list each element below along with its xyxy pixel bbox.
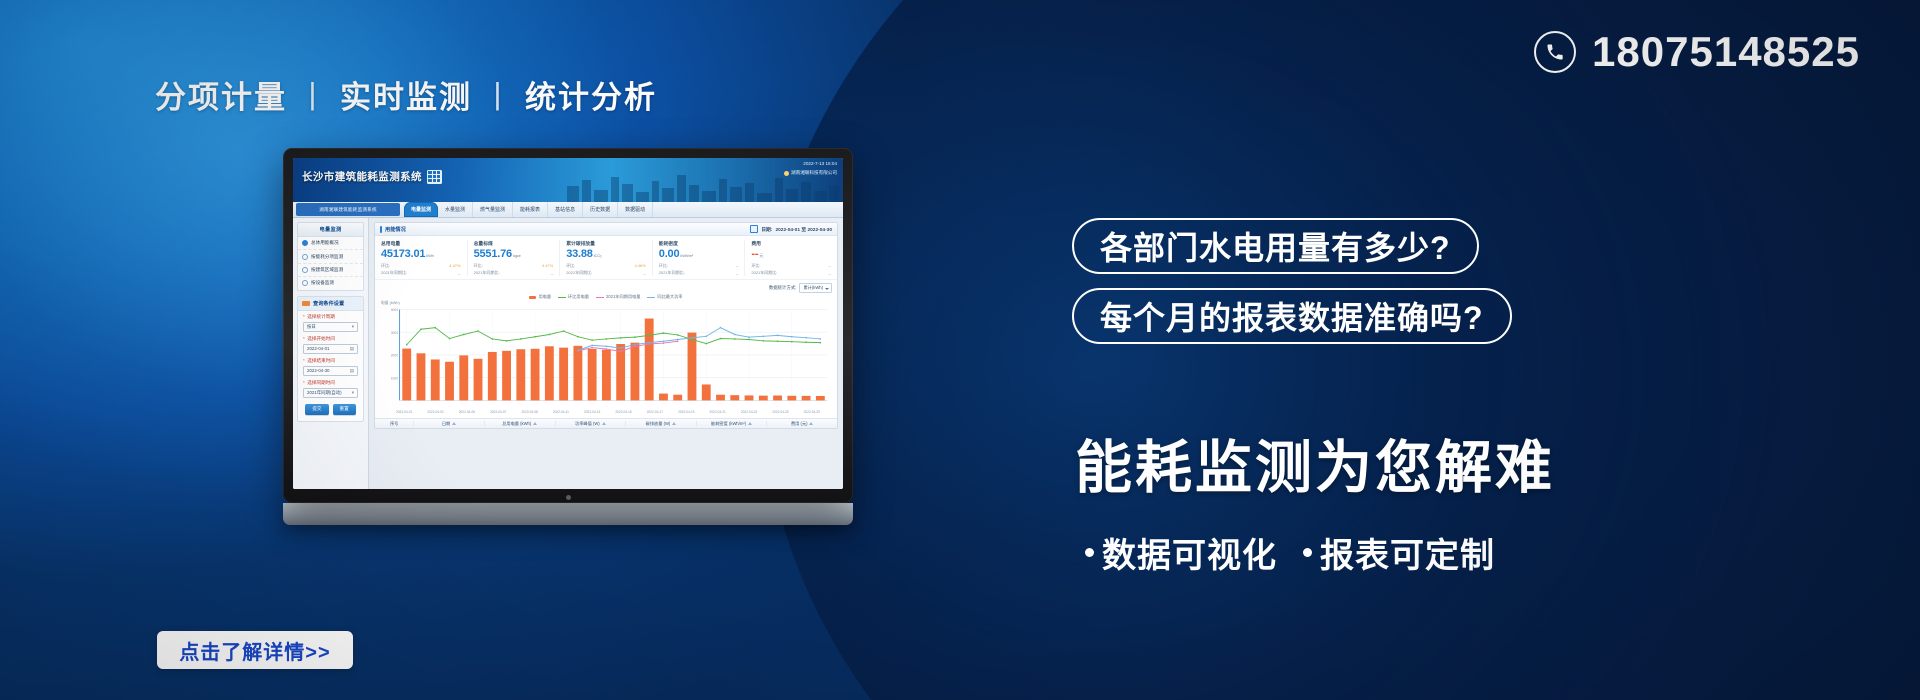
app-main: 用能情况 日期: 2022-04-01 至 2022-04-30 总用 [369, 218, 843, 489]
table-column-header[interactable]: 功率峰值 (W) [556, 421, 627, 427]
kpi-value-wrap: 33.88tCO₂ [566, 249, 646, 260]
kpi-comp-label: 环比: [751, 263, 760, 269]
kpi-value: -- [751, 248, 758, 260]
table-column-header[interactable]: 序号 [375, 421, 414, 427]
kpi-standard-coal: 总量标煤 5551.76kgce 环比: 4.47% 2021年同期比: [468, 240, 561, 276]
required-star-icon: * [303, 336, 305, 341]
tab-gas[interactable]: 燃气量监测 [473, 202, 513, 217]
chart-canvas: 1000200030004000 [380, 306, 832, 409]
kpi-comparison: 环比: -- [751, 263, 831, 269]
field-period: * 选择统计周期 按日 ▾ [298, 311, 363, 333]
table-header-row: 序号日期总用电量 (kWh)功率峰值 (W)碳排放量 (W)能耗密度 (kWh/… [375, 419, 837, 428]
kpi-comparison: 环比: -- [659, 263, 739, 269]
query-settings-header: 查询条件设置 [298, 297, 363, 311]
kpi-value-wrap: --元 [751, 249, 831, 260]
query-settings-card: 查询条件设置 * 选择统计周期 按日 ▾ [297, 296, 364, 422]
question-pill-2: 每个月的报表数据准确吗? [1072, 288, 1512, 344]
radio-icon [302, 254, 308, 260]
table-column-label: 功率峰值 (W) [575, 421, 600, 427]
calendar-icon: ▤ [350, 368, 354, 374]
calendar-icon: ▤ [350, 346, 354, 352]
bullet-dot-icon [1303, 548, 1312, 557]
field-end-date-value: 2022-04-30 [307, 368, 329, 373]
headline: 能耗监测为您解难 [1075, 422, 1555, 504]
kpi-energy-density: 能耗密度 0.00kWh/m² 环比: -- 2021年同期比: [653, 240, 746, 276]
feature-bullet-2: 报表可定制 [1303, 528, 1495, 577]
kpi-row: 总用电量 45173.01kWh 环比: 4.47% 2021年同期比: [375, 236, 837, 279]
kpi-unit: kgce [513, 253, 521, 258]
table-column-label: 费用 (元) [791, 421, 808, 427]
feature-bullet-2-label: 报表可定制 [1320, 528, 1495, 577]
x-tick-label: 2022-04-01 [396, 410, 412, 414]
sidebar-item-by-area-label: 按建筑区域监测 [311, 267, 343, 273]
tab-report[interactable]: 能耗报表 [513, 202, 548, 217]
sort-arrow-icon[interactable] [452, 422, 456, 425]
tab-water[interactable]: 水量监测 [438, 202, 473, 217]
building-grid-icon [427, 170, 442, 184]
kpi-value-wrap: 5551.76kgce [474, 249, 554, 260]
reset-button[interactable]: 重置 [333, 404, 356, 415]
legend-item-usage[interactable]: 用电量 [529, 294, 551, 300]
field-start-date-input[interactable]: 2022-04-01 ▤ [303, 344, 358, 354]
table-column-label: 碳排放量 (W) [646, 421, 671, 427]
cta-button[interactable]: 点击了解详情>> [157, 631, 353, 669]
x-tick-label: 2022-04-02 [427, 410, 443, 414]
sort-arrow-icon[interactable] [533, 422, 537, 425]
required-star-icon: * [303, 380, 305, 385]
cta-button-label: 点击了解详情>> [179, 636, 330, 665]
table-column-label: 序号 [390, 421, 398, 427]
sidebar-item-by-area[interactable]: 按建筑区域监测 [298, 264, 363, 277]
radio-icon [302, 240, 308, 246]
kpi-comp-value: -- [736, 263, 739, 268]
monitor-bezel: 长沙市建筑能耗监测系统 2022-7-13 15:04 湖南湘联科技有限公司 湖… [283, 148, 853, 503]
kpi-comp-value: 4.47% [542, 263, 553, 268]
x-tick-label: 2022-04-08 [522, 410, 538, 414]
svg-text:1000: 1000 [391, 376, 398, 380]
sort-arrow-icon[interactable] [602, 422, 606, 425]
chart-section: 数据统计方式: 累计(kWh) 用电量 环比用电量 [375, 279, 837, 416]
sidebar-item-overview[interactable]: 总体用能概况 [298, 237, 363, 250]
radio-icon [302, 267, 308, 273]
app-header-meta: 2022-7-13 15:04 湖南湘联科技有限公司 [784, 161, 837, 177]
chart-legend: 用电量 环比用电量 2021年同期用电量 [380, 294, 832, 300]
tab-data-drive[interactable]: 数据驱动 [618, 202, 653, 217]
kpi-yoy-value: -- [458, 271, 461, 276]
title-accent-icon [380, 226, 382, 233]
query-buttons: 提交 重置 [298, 399, 363, 421]
kpi-comparison: 环比: 4.47% [381, 263, 461, 269]
kpi-value: 45173.01 [381, 248, 425, 260]
kpi-comp-label: 环比: [659, 263, 668, 269]
field-start-date: * 选择开始时间 2022-04-01 ▤ [298, 333, 363, 355]
monitor-screen: 长沙市建筑能耗监测系统 2022-7-13 15:04 湖南湘联科技有限公司 湖… [293, 158, 843, 489]
kpi-unit: kWh [426, 253, 433, 258]
sidebar-header: 电量监测 [298, 223, 363, 237]
kpi-comp-label: 环比: [566, 263, 575, 269]
kpi-value: 5551.76 [474, 248, 512, 260]
x-tick-label: 2022-04-07 [490, 410, 506, 414]
query-settings-header-label: 查询条件设置 [313, 300, 344, 307]
kpi-comp-value: -- [828, 263, 831, 268]
app-timestamp: 2022-7-13 15:04 [784, 161, 837, 168]
table-column-label: 总用电量 (kWh) [502, 421, 531, 427]
legend-line-icon [558, 297, 566, 298]
usage-panel-title: 用能情况 [380, 226, 406, 233]
x-tick-label: 2022-04-15 [615, 410, 631, 414]
usage-table: 序号日期总用电量 (kWh)功率峰值 (W)碳排放量 (W)能耗密度 (kWh/… [375, 418, 837, 428]
sidebar-item-by-device-label: 按设备监测 [311, 280, 334, 286]
chevron-down-icon: ▾ [352, 324, 354, 330]
legend-line-icon [596, 297, 604, 298]
table-column-header[interactable]: 总用电量 (kWh) [485, 421, 556, 427]
system-name-badge: 湖南湘联建筑能耗监测系统 [296, 203, 400, 216]
kpi-yoy: 2021年同期比: -- [566, 270, 646, 276]
tagline-separator-1: 丨 [287, 80, 340, 115]
legend-line-icon [647, 297, 655, 298]
usage-panel: 用能情况 日期: 2022-04-01 至 2022-04-30 总用 [374, 222, 838, 429]
kpi-total-electricity: 总用电量 45173.01kWh 环比: 4.47% 2021年同期比: [375, 240, 468, 276]
question-pill-1: 各部门水电用量有多少? [1072, 218, 1479, 274]
bullet-dot-icon [1085, 548, 1094, 557]
table-column-label: 日期 [442, 421, 450, 427]
usage-panel-title-label: 用能情况 [385, 226, 406, 233]
app-title: 长沙市建筑能耗监测系统 [302, 169, 442, 184]
field-compare-period: * 选择同期时间 2021年同期(自动) ▾ [298, 377, 363, 399]
kpi-yoy-value: -- [736, 271, 739, 276]
tagline: 分项计量丨实时监测丨统计分析 [155, 72, 657, 117]
usage-chart: 1000200030004000 [380, 306, 832, 409]
field-start-date-label: * 选择开始时间 [303, 336, 358, 342]
sidebar-item-overview-label: 总体用能概况 [311, 240, 339, 246]
date-range-value: 2022-04-01 至 2022-04-30 [775, 226, 832, 233]
tagline-part-1: 分项计量 [155, 80, 287, 115]
kpi-yoy: 2021年同期比: -- [474, 270, 554, 276]
kpi-yoy-label: 2021年同期比: [381, 270, 407, 276]
sidebar-item-by-device[interactable]: 按设备监测 [298, 277, 363, 289]
chevron-down-icon: ▾ [352, 390, 354, 396]
date-range-label: 日期: [761, 226, 772, 233]
table-column-header[interactable]: 日期 [414, 421, 485, 427]
field-start-date-value: 2022-04-01 [307, 346, 329, 351]
kpi-label: 费用 [751, 240, 831, 247]
kpi-value-wrap: 0.00kWh/m² [659, 249, 739, 260]
table-column-header[interactable]: 碳排放量 (W) [626, 421, 697, 427]
sidebar-item-by-category-label: 按能耗分项监测 [311, 254, 343, 260]
x-tick-label: 2022-04-21 [710, 410, 726, 414]
legend-item-peak[interactable]: 同比最大功率 [647, 294, 682, 300]
field-compare-period-value: 2021年同期(自动) [307, 390, 342, 396]
legend-swatch-icon [529, 296, 536, 299]
field-end-date-label: * 选择结束时间 [303, 358, 358, 364]
x-tick-label: 2022-04-13 [584, 410, 600, 414]
kpi-yoy-label: 2021年同期比: [566, 270, 592, 276]
kpi-comp-value: 4.47% [449, 263, 460, 268]
kpi-yoy-label: 2021年同期比: [474, 270, 500, 276]
x-tick-label: 2022-04-23 [741, 410, 757, 414]
app-tabbar: 湖南湘联建筑能耗监测系统 电量监测 水量监测 燃气量监测 能耗报表 基站信息 历… [293, 202, 843, 218]
kpi-yoy-label: 2021年同期比: [659, 270, 685, 276]
feature-bullet-1: 数据可视化 [1085, 528, 1277, 577]
legend-item-chain[interactable]: 环比用电量 [558, 294, 589, 300]
sort-arrow-icon[interactable] [809, 422, 813, 425]
x-tick-label: 2022-04-19 [678, 410, 694, 414]
contact-phone[interactable]: 18075148525 [1534, 28, 1860, 76]
question-pill-1-label: 各部门水电用量有多少? [1100, 223, 1451, 269]
kpi-value: 0.00 [659, 248, 680, 260]
field-end-date: * 选择结束时间 2022-04-30 ▤ [298, 355, 363, 377]
tab-electricity[interactable]: 电量监测 [404, 202, 438, 217]
filter-icon [302, 301, 310, 306]
app-title-text: 长沙市建筑能耗监测系统 [302, 169, 422, 184]
app-current-user: 湖南湘联科技有限公司 [784, 170, 837, 177]
field-period-select[interactable]: 按日 ▾ [303, 322, 358, 332]
monitor-power-led-icon [566, 495, 571, 500]
app-sidebar: 电量监测 总体用能概况 按能耗分项监测 按建筑区域监测 [293, 218, 369, 489]
field-compare-period-label: * 选择同期时间 [303, 380, 358, 386]
required-star-icon: * [303, 314, 305, 319]
chart-mode-label: 数据统计方式: [769, 285, 797, 291]
table-column-header[interactable]: 能耗密度 (kWh/m²) [697, 421, 768, 427]
sort-arrow-icon[interactable] [672, 422, 676, 425]
x-tick-label: 2022-04-11 [553, 410, 569, 414]
field-period-value: 按日 [307, 324, 316, 330]
kpi-yoy-value: -- [643, 271, 646, 276]
submit-button[interactable]: 提交 [305, 404, 328, 415]
svg-text:2000: 2000 [391, 353, 398, 357]
kpi-yoy-label: 2021年同期比: [751, 270, 777, 276]
field-end-date-input[interactable]: 2022-04-30 ▤ [303, 366, 358, 376]
usage-panel-header: 用能情况 日期: 2022-04-01 至 2022-04-30 [375, 223, 837, 236]
kpi-carbon-emission: 累计碳排放量 33.88tCO₂ 环比: 4.46% 2021年同期比: [560, 240, 653, 276]
x-tick-label: 2022-04-06 [459, 410, 475, 414]
banner-stage: 分项计量丨实时监测丨统计分析 18075148525 各部门水电用量有多少? 每… [0, 0, 1920, 700]
kpi-comparison: 环比: 4.46% [566, 263, 646, 269]
kpi-unit: kWh/m² [680, 253, 693, 258]
app-user-name: 湖南湘联科技有限公司 [791, 170, 837, 177]
kpi-unit: 元 [759, 253, 763, 258]
field-compare-period-select[interactable]: 2021年同期(自动) ▾ [303, 388, 358, 398]
kpi-yoy: 2021年同期比: -- [659, 270, 739, 276]
kpi-value-wrap: 45173.01kWh [381, 249, 461, 260]
feature-bullet-1-label: 数据可视化 [1102, 528, 1277, 577]
feature-bullets: 数据可视化 报表可定制 [1085, 528, 1495, 577]
phone-number: 18075148525 [1592, 28, 1860, 76]
tab-station-info[interactable]: 基站信息 [548, 202, 583, 217]
x-tick-label: 2022-04-17 [647, 410, 663, 414]
app-body: 电量监测 总体用能概况 按能耗分项监测 按建筑区域监测 [293, 218, 843, 489]
x-tick-label: 2022-04-29 [804, 410, 820, 414]
chart-mode-selector[interactable]: 数据统计方式: 累计(kWh) [380, 283, 832, 293]
sidebar-nav-card: 电量监测 总体用能概况 按能耗分项监测 按建筑区域监测 [297, 222, 364, 291]
kpi-yoy: 2021年同期比: -- [381, 270, 461, 276]
kpi-value: 33.88 [566, 248, 593, 260]
sidebar-item-by-category[interactable]: 按能耗分项监测 [298, 250, 363, 263]
kpi-label: 累计碳排放量 [566, 240, 646, 247]
legend-item-yoy[interactable]: 2021年同期用电量 [596, 294, 640, 300]
chart-x-axis-labels: 2022-04-012022-04-022022-04-062022-04-07… [380, 409, 832, 414]
x-tick-label: 2022-04-25 [772, 410, 788, 414]
tagline-part-3: 统计分析 [525, 80, 657, 115]
background-sweep [760, 0, 1920, 700]
table-column-header[interactable]: 费用 (元) [767, 421, 837, 427]
monitor-stand [283, 503, 853, 525]
kpi-yoy-value: -- [828, 271, 831, 276]
kpi-label: 总量标煤 [474, 240, 554, 247]
required-star-icon: * [303, 358, 305, 363]
calendar-icon [750, 225, 758, 233]
tagline-separator-2: 丨 [472, 80, 525, 115]
kpi-cost: 费用 --元 环比: -- 2021年同期比: - [745, 240, 837, 276]
question-pill-2-label: 每个月的报表数据准确吗? [1100, 293, 1484, 339]
kpi-comp-label: 环比: [381, 263, 390, 269]
svg-text:3000: 3000 [391, 331, 398, 335]
phone-circle-icon [1534, 31, 1576, 73]
kpi-label: 能耗密度 [659, 240, 739, 247]
kpi-comp-label: 环比: [474, 263, 483, 269]
kpi-yoy: 2021年同期比: -- [751, 270, 831, 276]
kpi-comp-value: 4.46% [634, 263, 645, 268]
tagline-part-2: 实时监测 [340, 80, 472, 115]
sort-arrow-icon[interactable] [748, 422, 752, 425]
field-period-label: * 选择统计周期 [303, 314, 358, 320]
kpi-unit: tCO₂ [594, 253, 602, 258]
user-icon [784, 171, 789, 176]
table-column-label: 能耗密度 (kWh/m²) [711, 421, 746, 427]
kpi-yoy-value: -- [551, 271, 554, 276]
kpi-comparison: 环比: 4.47% [474, 263, 554, 269]
tab-history[interactable]: 历史数据 [583, 202, 618, 217]
svg-text:4000: 4000 [391, 308, 398, 312]
app-header: 长沙市建筑能耗监测系统 2022-7-13 15:04 湖南湘联科技有限公司 [293, 158, 843, 202]
chart-mode-value[interactable]: 累计(kWh) [799, 283, 832, 293]
date-range-display[interactable]: 日期: 2022-04-01 至 2022-04-30 [750, 225, 832, 233]
kpi-label: 总用电量 [381, 240, 461, 247]
radio-icon [302, 280, 308, 286]
